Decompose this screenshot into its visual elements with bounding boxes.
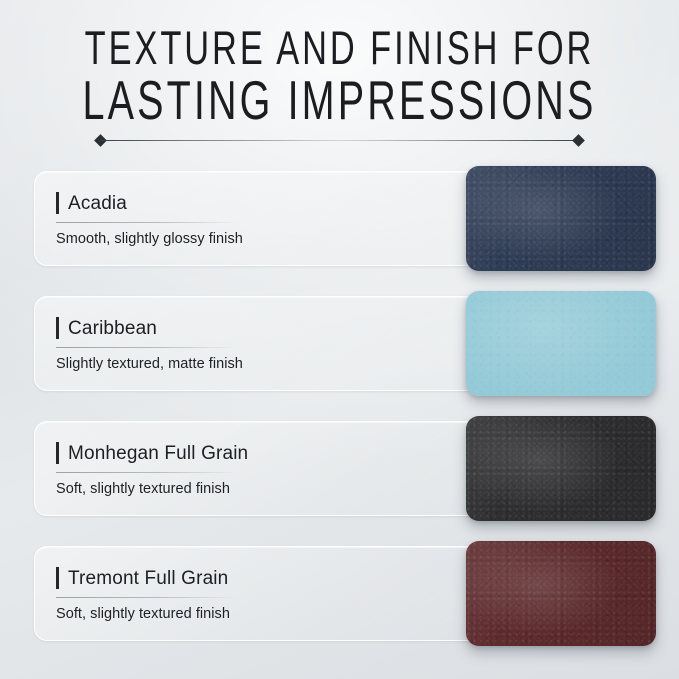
- swatch-description: Slightly textured, matte finish: [56, 356, 386, 373]
- swatch-sheen: [466, 166, 656, 271]
- swatch-description: Soft, slightly textured finish: [56, 481, 386, 498]
- name-wrap: Acadia: [56, 190, 386, 216]
- accent-bar-icon: [56, 317, 59, 339]
- swatch-row: Monhegan Full GrainSoft, slightly textur…: [0, 416, 679, 541]
- name-underline: [56, 347, 238, 348]
- color-swatch[interactable]: [466, 416, 656, 521]
- card-body: Tremont Full GrainSoft, slightly texture…: [56, 565, 386, 623]
- name-underline: [56, 472, 238, 473]
- accent-bar-icon: [56, 442, 59, 464]
- page-header: TEXTURE AND FINISH FOR LASTING IMPRESSIO…: [0, 0, 679, 121]
- swatch-row: Tremont Full GrainSoft, slightly texture…: [0, 541, 679, 666]
- swatch-sheen: [466, 416, 656, 521]
- header-divider: [96, 136, 583, 146]
- card-body: CaribbeanSlightly textured, matte finish: [56, 315, 386, 373]
- swatch-list: AcadiaSmooth, slightly glossy finishCari…: [0, 166, 679, 666]
- swatch-row: AcadiaSmooth, slightly glossy finish: [0, 166, 679, 291]
- swatch-sheen: [466, 291, 656, 396]
- accent-bar-icon: [56, 192, 59, 214]
- swatch-name: Monhegan Full Grain: [68, 444, 248, 463]
- swatch-description: Soft, slightly textured finish: [56, 606, 386, 623]
- color-swatch[interactable]: [466, 166, 656, 271]
- name-underline: [56, 222, 238, 223]
- swatch-name: Acadia: [68, 194, 127, 213]
- card-body: AcadiaSmooth, slightly glossy finish: [56, 190, 386, 248]
- color-swatch[interactable]: [466, 291, 656, 396]
- name-wrap: Monhegan Full Grain: [56, 440, 386, 466]
- swatch-name: Tremont Full Grain: [68, 569, 228, 588]
- swatch-sheen: [466, 541, 656, 646]
- infographic-page: TEXTURE AND FINISH FOR LASTING IMPRESSIO…: [0, 0, 679, 679]
- color-swatch[interactable]: [466, 541, 656, 646]
- swatch-description: Smooth, slightly glossy finish: [56, 231, 386, 248]
- page-title-line-2: LASTING IMPRESSIONS: [48, 72, 632, 130]
- card-body: Monhegan Full GrainSoft, slightly textur…: [56, 440, 386, 498]
- diamond-right-icon: [572, 134, 585, 147]
- swatch-name: Caribbean: [68, 319, 157, 338]
- name-underline: [56, 597, 238, 598]
- swatch-row: CaribbeanSlightly textured, matte finish: [0, 291, 679, 416]
- name-wrap: Tremont Full Grain: [56, 565, 386, 591]
- divider-line: [100, 140, 579, 141]
- name-wrap: Caribbean: [56, 315, 386, 341]
- page-title-line-1: TEXTURE AND FINISH FOR: [48, 24, 632, 74]
- accent-bar-icon: [56, 567, 59, 589]
